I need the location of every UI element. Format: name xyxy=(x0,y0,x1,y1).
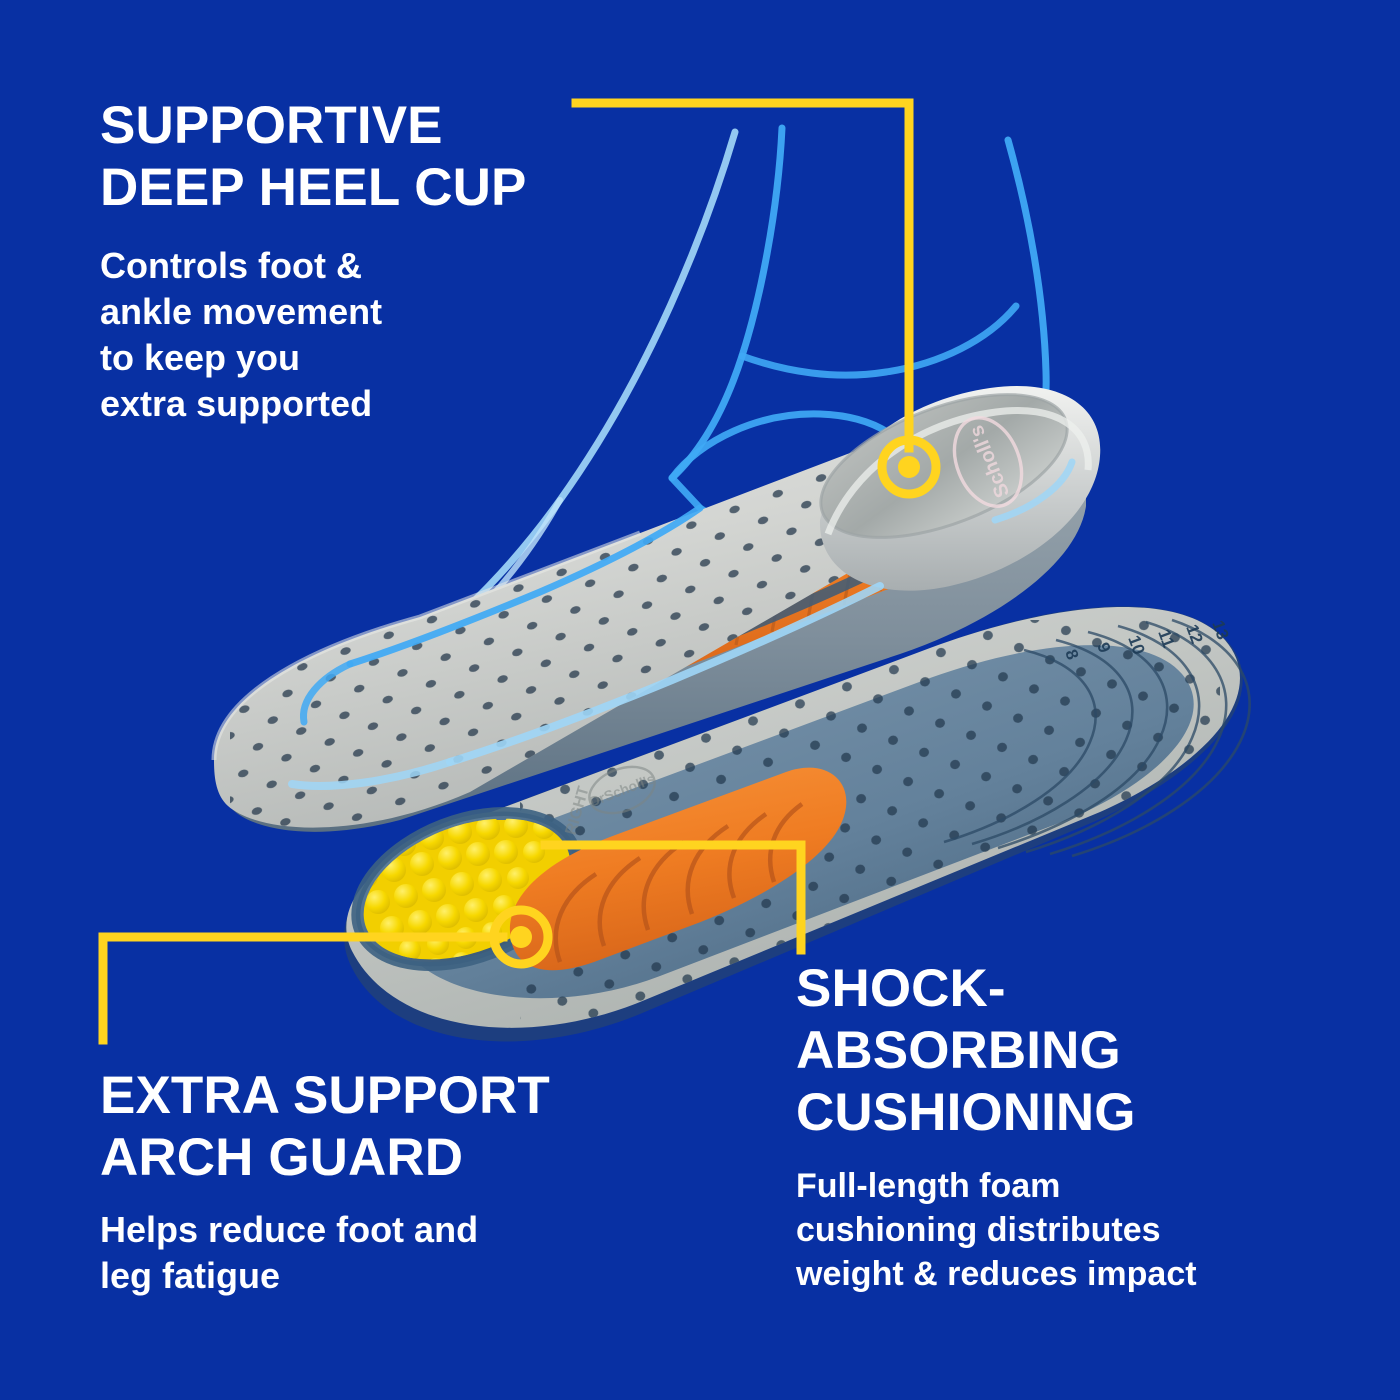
callout-headline-arch-guard: EXTRA SUPPORT ARCH GUARD xyxy=(100,1065,700,1189)
infographic-canvas: 8 9 10 11 12 13 xyxy=(0,0,1400,1400)
callout-deep-heel-cup: SUPPORTIVE DEEP HEEL CUP Controls foot &… xyxy=(100,95,620,427)
callout-body-arch-guard: Helps reduce foot and leg fatigue xyxy=(100,1207,700,1299)
callout-headline-shock-absorbing: SHOCK- ABSORBING CUSHIONING xyxy=(796,958,1316,1144)
callout-body-deep-heel-cup: Controls foot & ankle movement to keep y… xyxy=(100,243,620,427)
callout-shock-absorbing-cushioning: SHOCK- ABSORBING CUSHIONING Full-length … xyxy=(796,958,1316,1296)
callout-headline-deep-heel-cup: SUPPORTIVE DEEP HEEL CUP xyxy=(100,95,620,219)
callout-body-shock-absorbing: Full-length foam cushioning distributes … xyxy=(796,1164,1316,1296)
callout-extra-support-arch-guard: EXTRA SUPPORT ARCH GUARD Helps reduce fo… xyxy=(100,1065,700,1299)
